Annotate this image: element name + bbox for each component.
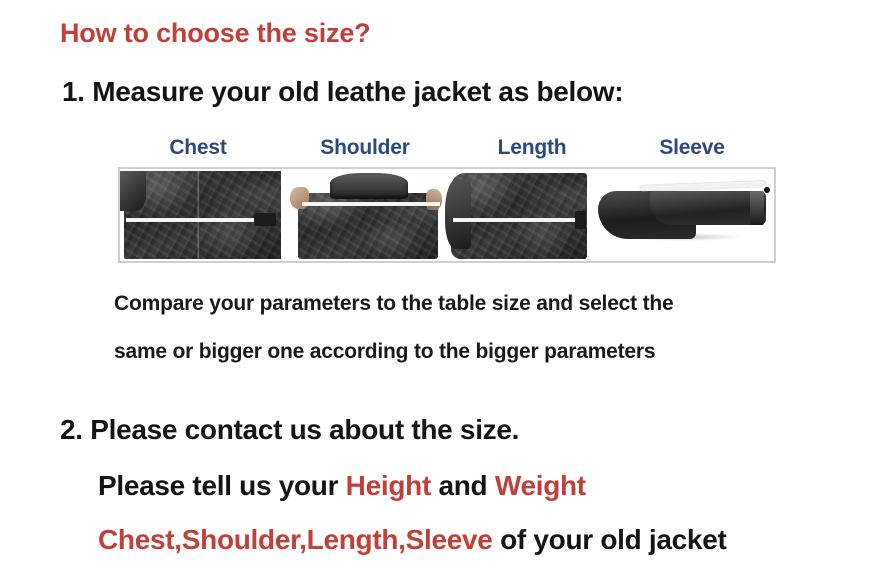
label-length: Length — [498, 136, 567, 160]
step-2-line-2-mid: and — [431, 470, 495, 501]
compare-text-line-1: Compare your parameters to the table siz… — [114, 292, 673, 316]
jacket-sleeve-lower — [650, 191, 766, 225]
jacket-shoulder-left — [120, 171, 146, 211]
measuring-tape-shoulder — [302, 202, 440, 206]
sleeve-photo — [592, 169, 774, 261]
step-2-line-3-post: of your old jacket — [493, 524, 727, 555]
tape-clip-icon — [575, 211, 586, 229]
length-photo — [445, 169, 592, 261]
measuring-tape-length — [453, 218, 577, 222]
label-chest: Chest — [169, 136, 226, 160]
highlight-height: Height — [346, 470, 431, 501]
highlight-measurements: Chest,Shoulder,Length,Sleeve — [98, 524, 493, 555]
compare-text-line-2: same or bigger one according to the bigg… — [114, 340, 655, 364]
jacket-length-image — [451, 173, 587, 259]
highlight-weight: Weight — [495, 470, 586, 501]
step-2-line-2-pre: Please tell us your — [98, 470, 346, 501]
measuring-tape-chest — [126, 218, 256, 222]
jacket-cuff — [750, 191, 764, 225]
measuring-tape-sleeve — [640, 181, 766, 192]
jacket-sleeve-left — [445, 179, 471, 249]
shoulder-photo — [284, 169, 445, 261]
hand-right — [426, 189, 442, 210]
step-1-heading: 1. Measure your old leathe jacket as bel… — [62, 76, 623, 108]
label-shoulder: Shoulder — [320, 136, 409, 160]
measurement-photo-strip — [118, 167, 776, 263]
page-title: How to choose the size? — [60, 18, 370, 49]
step-2-line-2: Please tell us your Height and Weight — [98, 470, 586, 502]
size-guide-page: How to choose the size? 1. Measure your … — [0, 0, 872, 586]
step-2-line-3: Chest,Shoulder,Length,Sleeve of your old… — [98, 524, 727, 556]
measurement-labels-row: Chest Shoulder Length Sleeve — [118, 136, 776, 162]
jacket-collar — [330, 173, 408, 199]
label-sleeve: Sleeve — [659, 136, 724, 160]
tape-case-icon — [254, 213, 276, 226]
tape-pin-icon — [764, 187, 770, 193]
step-2-heading: 2. Please contact us about the size. — [60, 414, 519, 446]
chest-photo — [120, 169, 284, 261]
jacket-zipper — [197, 171, 200, 259]
